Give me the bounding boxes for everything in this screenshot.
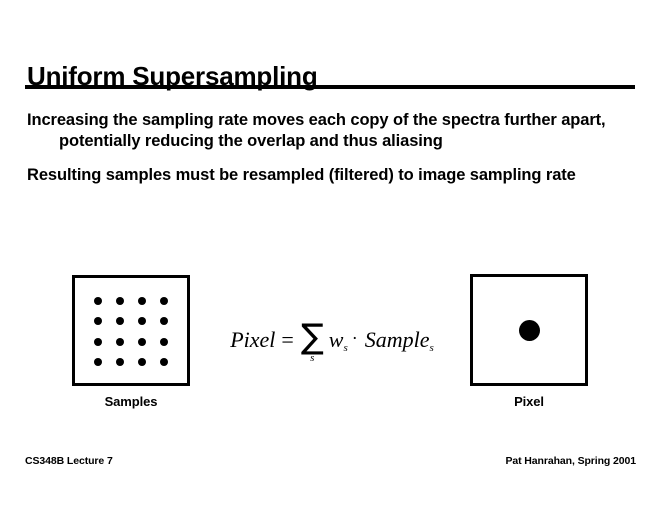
sample-dot-icon [94, 317, 102, 325]
bullet-text-1: Increasing the sampling rate moves each … [27, 111, 606, 150]
sample-dot-icon [116, 358, 124, 366]
sample-dot-icon [116, 297, 124, 305]
formula-weight: ws [329, 327, 348, 354]
slide-canvas: Uniform Supersampling Increasing the sam… [0, 0, 660, 510]
samples-box [72, 275, 190, 386]
sample-cell [131, 352, 153, 372]
bullet-list: Increasing the sampling rate moves each … [27, 110, 635, 199]
sample-dot-icon [138, 297, 146, 305]
pixel-formula: Pixel = ∑ s ws · Samples [212, 310, 452, 370]
formula-sample: Samples [365, 327, 434, 354]
sample-cell [109, 332, 131, 352]
formula-operator: · [352, 328, 358, 349]
summation-index: s [310, 352, 314, 364]
sample-cell [131, 291, 153, 311]
sample-cell [131, 311, 153, 331]
sigma-icon: ∑ [301, 322, 324, 352]
sample-dot-icon [138, 317, 146, 325]
summation-symbol: ∑ s [301, 322, 324, 364]
sample-cell [87, 332, 109, 352]
sample-cell [109, 311, 131, 331]
formula-lhs: Pixel [230, 327, 275, 353]
sample-dot-icon [160, 297, 168, 305]
sample-cell [153, 352, 175, 372]
sample-cell [87, 311, 109, 331]
samples-dot-grid [75, 278, 187, 383]
sample-dot-icon [94, 338, 102, 346]
footer-author-label: Pat Hanrahan, Spring 2001 [505, 455, 636, 467]
sample-dot-icon [116, 338, 124, 346]
formula-equals: = [281, 327, 293, 353]
pixel-dot-icon [519, 320, 540, 341]
pixel-dot-wrapper [473, 277, 585, 383]
list-item: Increasing the sampling rate moves each … [27, 110, 635, 152]
weight-subscript: s [343, 341, 347, 353]
sample-cell [87, 352, 109, 372]
sample-cell [153, 311, 175, 331]
pixel-caption: Pixel [470, 394, 588, 409]
sample-cell [109, 352, 131, 372]
sample-dot-icon [116, 317, 124, 325]
weight-symbol: w [329, 327, 344, 352]
sample-dot-icon [138, 358, 146, 366]
sample-dot-icon [94, 297, 102, 305]
sample-cell [109, 291, 131, 311]
sample-cell [131, 332, 153, 352]
bullet-text-2: Resulting samples must be resampled (fil… [27, 166, 576, 184]
sample-subscript: s [430, 341, 434, 353]
sample-dot-icon [160, 338, 168, 346]
sample-cell [87, 291, 109, 311]
sample-dot-icon [160, 317, 168, 325]
sample-cell [153, 291, 175, 311]
list-item: Resulting samples must be resampled (fil… [27, 165, 635, 186]
title-divider [25, 85, 635, 89]
sample-dot-icon [160, 358, 168, 366]
sample-dot-icon [138, 338, 146, 346]
sample-dot-icon [94, 358, 102, 366]
samples-caption: Samples [72, 394, 190, 409]
footer-course-label: CS348B Lecture 7 [25, 455, 113, 467]
sample-symbol: Sample [365, 327, 430, 352]
pixel-box [470, 274, 588, 386]
sample-cell [153, 332, 175, 352]
